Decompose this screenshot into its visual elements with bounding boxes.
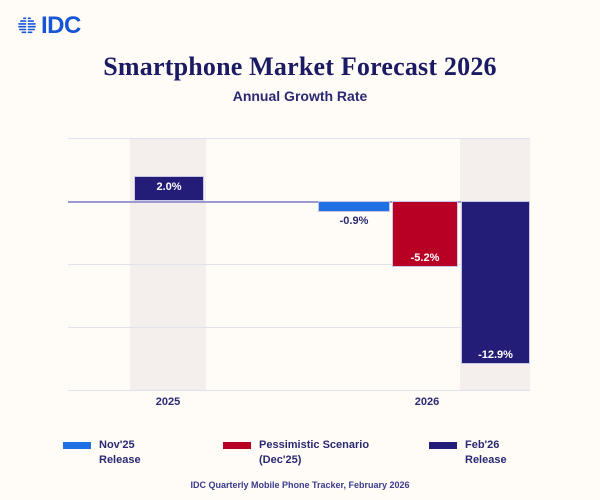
bar-value-label: -12.9% xyxy=(461,349,530,361)
page-title: Smartphone Market Forecast 2026 xyxy=(0,52,600,82)
bar-2026-feb26[interactable] xyxy=(461,201,530,364)
legend-item-feb26[interactable]: Feb'26 Release xyxy=(429,438,537,468)
source-note: IDC Quarterly Mobile Phone Tracker, Febr… xyxy=(0,480,600,490)
legend-item-pessimistic[interactable]: Pessimistic Scenario (Dec'25) xyxy=(223,438,377,468)
legend-label-line1: Nov'25 xyxy=(99,439,135,451)
legend-label-line1: Feb'26 xyxy=(465,439,499,451)
legend-label: Pessimistic Scenario (Dec'25) xyxy=(259,438,377,468)
gridline-5 xyxy=(68,138,530,139)
globe-stripes-icon xyxy=(16,15,38,37)
legend-swatch-icon xyxy=(223,442,251,449)
legend-swatch-icon xyxy=(63,442,91,449)
bar-value-label: 2.0% xyxy=(134,181,204,193)
x-tick-label-2026: 2026 xyxy=(394,396,460,408)
bar-value-label: -5.2% xyxy=(392,252,458,264)
page-subtitle: Annual Growth Rate xyxy=(0,88,600,104)
idc-logo: IDC xyxy=(16,14,81,38)
bar-2026-nov25[interactable] xyxy=(318,201,390,212)
chart-legend: Nov'25 Release Pessimistic Scenario (Dec… xyxy=(0,438,600,468)
logo-wordmark: IDC xyxy=(41,14,81,38)
bar-value-label: -0.9% xyxy=(318,215,390,227)
legend-label: Nov'25 Release xyxy=(99,438,171,468)
x-tick-label-2025: 2025 xyxy=(130,396,206,408)
gridline-minus15 xyxy=(68,390,530,391)
chart-plot-area: 5% 0% -5% -10% -15% 2.0% -0.9% -5.2% -12… xyxy=(68,138,530,390)
legend-swatch-icon xyxy=(429,442,457,449)
legend-label-line2: Release xyxy=(465,454,507,466)
legend-label-line2: Release xyxy=(99,454,141,466)
legend-item-nov25[interactable]: Nov'25 Release xyxy=(63,438,171,468)
legend-label: Feb'26 Release xyxy=(465,438,537,468)
legend-label-line1: Pessimistic Scenario xyxy=(259,439,369,451)
legend-label-line2: (Dec'25) xyxy=(259,454,301,466)
